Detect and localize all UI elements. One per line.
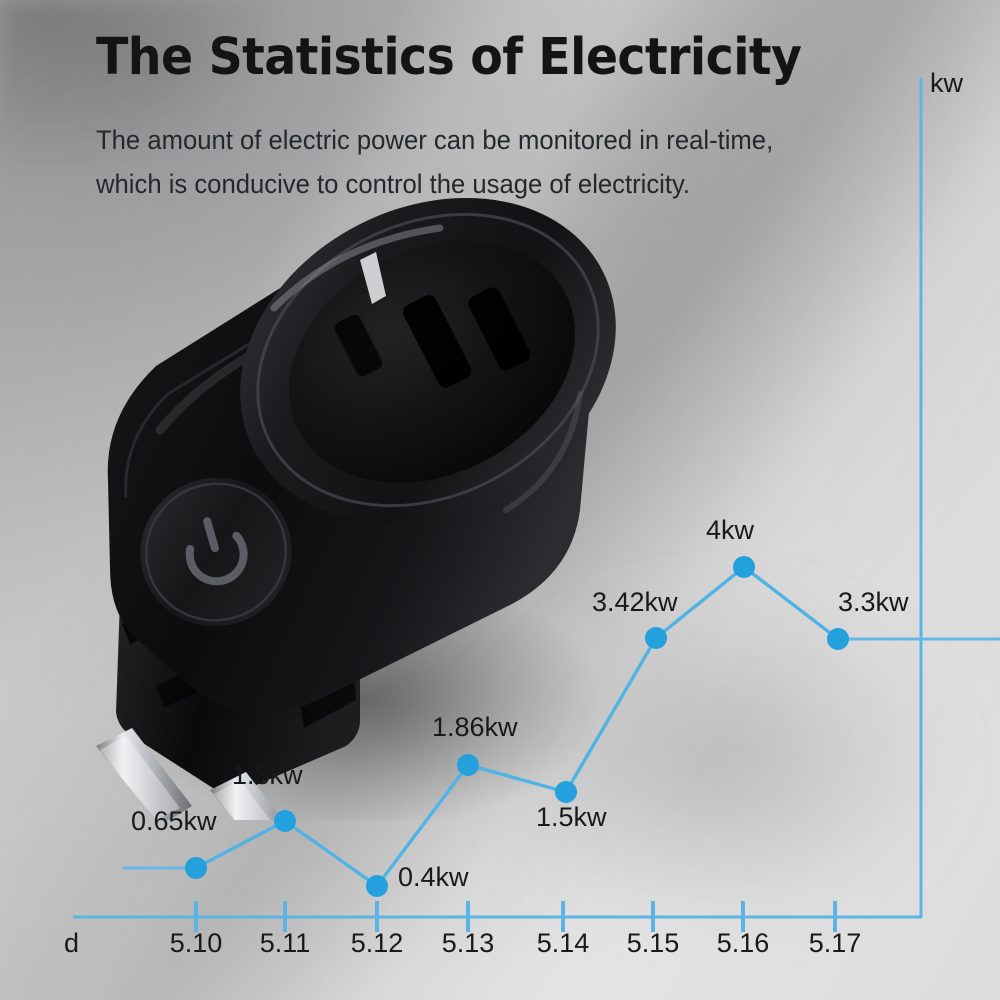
electricity-line-chart <box>0 0 1000 1000</box>
x-tick-label-5-12: 5.12 <box>351 928 404 959</box>
x-tick-label-5-17: 5.17 <box>809 928 862 959</box>
infographic-canvas: The Statistics of Electricity The amount… <box>0 0 1000 1000</box>
value-label-5-15: 3.42kw <box>592 587 678 618</box>
x-tick-label-5-10: 5.10 <box>170 928 223 959</box>
x-axis-name-label: d <box>64 928 79 959</box>
x-tick-label-5-14: 5.14 <box>537 928 590 959</box>
value-label-5-11: 1.3kw <box>232 760 303 791</box>
data-point-5-12 <box>366 875 388 897</box>
data-point-5-13 <box>457 754 479 776</box>
chart-axes <box>73 78 921 918</box>
value-label-5-14: 1.5kw <box>536 802 607 833</box>
data-point-5-16 <box>733 556 755 578</box>
chart-guide-lines <box>124 639 1000 868</box>
value-label-5-12: 0.4kw <box>398 862 469 893</box>
value-label-5-16: 4kw <box>706 515 754 546</box>
data-point-5-10 <box>185 857 207 879</box>
y-axis-unit-label: kw <box>930 68 963 99</box>
x-tick-label-5-16: 5.16 <box>717 928 770 959</box>
value-label-5-13: 1.86kw <box>432 712 518 743</box>
x-tick-label-5-15: 5.15 <box>627 928 680 959</box>
x-tick-label-5-11: 5.11 <box>260 928 311 959</box>
value-label-5-10: 0.65kw <box>131 806 217 837</box>
value-label-5-17: 3.3kw <box>838 587 909 618</box>
data-point-5-14 <box>555 781 577 803</box>
data-point-5-15 <box>645 627 667 649</box>
data-point-5-17 <box>827 628 849 650</box>
x-tick-label-5-13: 5.13 <box>442 928 495 959</box>
data-point-5-11 <box>274 810 296 832</box>
